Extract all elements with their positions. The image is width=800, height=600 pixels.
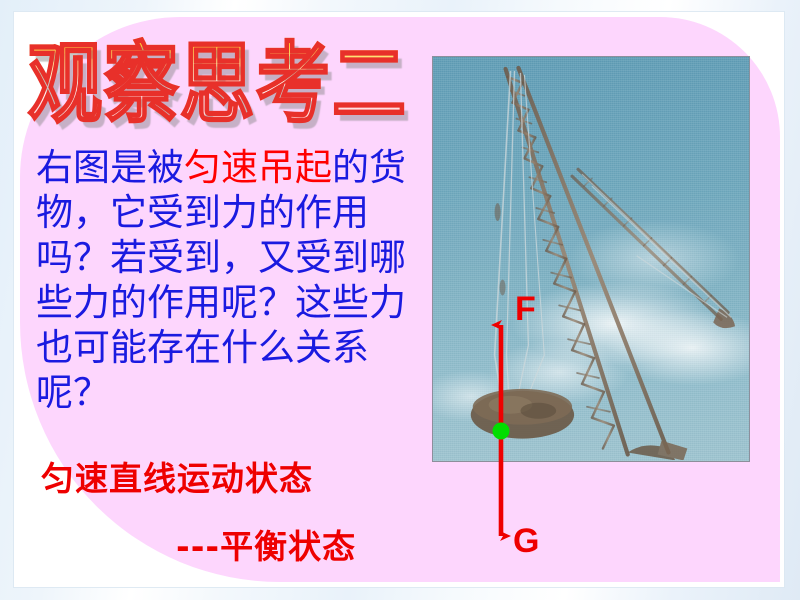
slide-canvas: 观察思考二 右图是被匀速吊起的货物，它受到力的作用吗？若受到，又受到哪些力的作用… [0,0,800,600]
question-highlight-uniform-lift: 匀速吊起 [184,146,332,189]
crane-illustration [433,57,749,460]
conclusion-uniform-linear-motion: 匀速直线运动状态 [41,452,313,500]
question-paragraph: 右图是被匀速吊起的货物，它受到力的作用吗？若受到，又受到哪些力的作用呢？这些力也… [36,145,436,415]
question-segment-1: 右图是被 [36,146,184,189]
crane-photo [432,56,750,462]
force-label-G: G [513,524,539,558]
page-title: 观察思考二 [28,22,448,152]
force-label-F: F [515,292,536,326]
conclusion-equilibrium-state: ---平衡状态 [176,520,356,568]
